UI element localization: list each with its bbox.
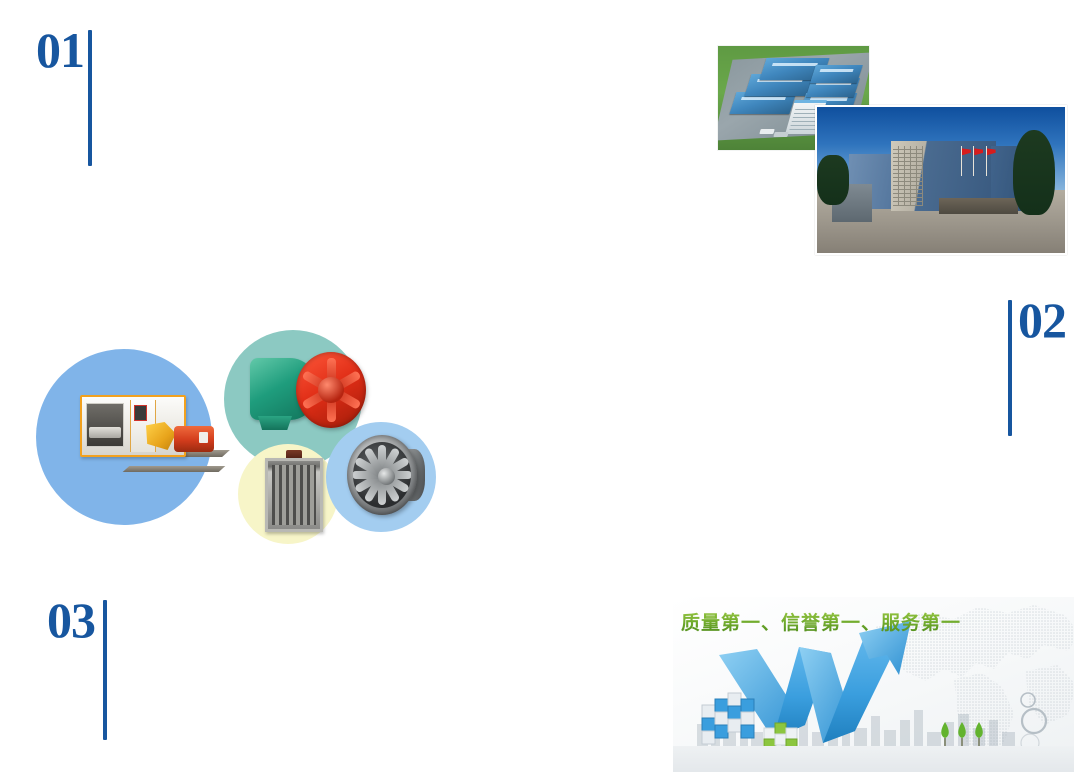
factory-shed xyxy=(810,65,863,83)
flag-icon xyxy=(986,146,987,175)
factory-truck xyxy=(760,129,775,134)
courtyard-wall xyxy=(939,198,1018,214)
factory-truck xyxy=(773,132,788,137)
tree-icon xyxy=(817,155,849,205)
page-root: 01 02 xyxy=(0,0,1074,772)
cabinet-control-box xyxy=(134,405,147,421)
slogan-text: 质量第一、信誉第一、服务第一 xyxy=(681,608,961,635)
cabinet-base-rail xyxy=(123,466,226,472)
section-marker-02: 02 xyxy=(1008,297,1066,436)
product-image-cluster xyxy=(34,330,424,555)
axial-fan-impeller xyxy=(296,352,366,428)
section-rule-01 xyxy=(88,30,92,166)
quality-slogan-banner: 质量第一、信誉第一、服务第一 xyxy=(673,597,1074,772)
section-marker-03: 03 xyxy=(47,597,107,740)
cabinet-motor xyxy=(174,426,214,452)
cabinet-housing xyxy=(80,395,186,457)
blue-cube-stack-icon xyxy=(700,689,762,745)
section-number-01: 01 xyxy=(36,27,84,73)
axial-fan-foot xyxy=(258,416,292,430)
product-mixed-flow-turbine-fan xyxy=(347,435,425,517)
section-marker-01: 01 xyxy=(36,27,92,166)
damper-body xyxy=(265,458,323,532)
flag-icon xyxy=(973,146,974,175)
office-building-photo xyxy=(815,105,1067,255)
section-number-03: 03 xyxy=(47,597,95,643)
banner-floor xyxy=(673,746,1074,772)
section-rule-02 xyxy=(1008,300,1012,436)
cabinet-inlet-opening xyxy=(86,403,124,447)
turbine-hub xyxy=(378,468,395,485)
tree-icon xyxy=(1013,130,1055,215)
section-rule-03 xyxy=(103,600,107,740)
flag-icon xyxy=(961,146,962,175)
section-number-02: 02 xyxy=(1018,297,1066,343)
axial-fan-hub xyxy=(318,377,344,403)
tree-row-icon xyxy=(938,720,988,748)
